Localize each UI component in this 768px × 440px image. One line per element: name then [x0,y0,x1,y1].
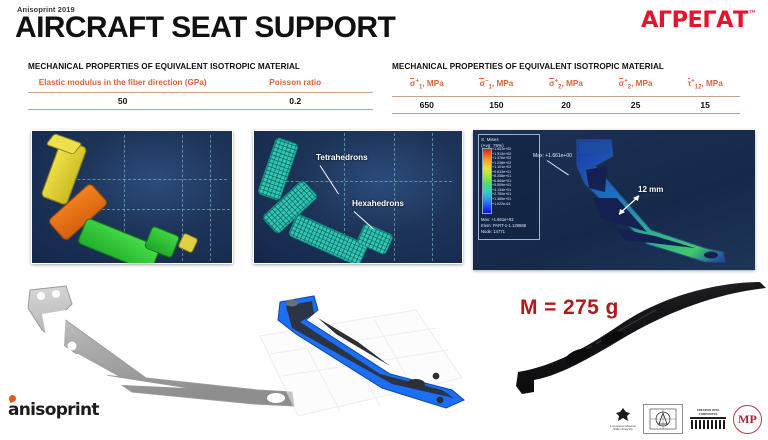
fea-hole [704,252,718,259]
sup-sign: − [485,78,489,84]
bracket-cutout [42,310,66,346]
sup-sign: + [415,78,419,84]
table-isotropic-elastic: MECHANICAL PROPERTIES OF EQUIVALENT ISOT… [28,62,373,110]
agregat-logo: АГРЕГАТ ™ [642,8,756,33]
sigma-glyph: σ [479,78,485,89]
trademark-symbol: ™ [749,10,756,17]
ccc-caption: CREATION WITH COMPOSITES [688,409,728,415]
slicer-view [240,276,470,434]
sigma-glyph: σ [410,78,416,89]
table-isotropic-strength: MECHANICAL PROPERTIES OF EQUIVALENT ISOT… [392,62,740,114]
table-caption-right: MECHANICAL PROPERTIES OF EQUIVALENT ISOT… [392,62,740,71]
th-sigma-1-plus: σ+1, MPa [392,76,462,97]
slicer-hole [433,373,440,380]
mp-logo: MP [733,405,762,434]
institute-logo [643,404,683,434]
agregat-wordmark: АГРЕГАТ [641,8,748,33]
sup-sign: + [624,78,628,84]
construction-line [52,179,227,180]
mass-label: M = 275 g [520,296,619,320]
td-sigma-2-plus-alt: 25 [601,97,671,114]
slicer-hole [437,397,444,404]
anisoprint-wordmark: anisoprint [8,400,99,420]
creation-with-composites-logo: CREATION WITH COMPOSITES [688,404,728,434]
th-poisson-ratio: Poisson ratio [217,76,373,93]
msu-crest-icon [614,407,632,424]
msu-caption: Lomonosov Moscow State University [608,425,638,431]
table-header-row: σ+1, MPa σ−1, MPa σ+2, MPa σ+2, MPa τ+12… [392,76,740,97]
td-sigma-1-plus: 650 [392,97,462,114]
mesh-label-tetrahedrons: Tetrahedrons [316,153,368,162]
unit: , MPa [422,79,443,88]
table-row: 650 150 20 25 15 [392,97,740,114]
sigma-glyph: σ [619,78,625,89]
th-elastic-modulus: Elastic modulus in the fiber direction (… [28,76,217,93]
unit: , MPa [492,79,513,88]
strength-properties-table: σ+1, MPa σ−1, MPa σ+2, MPa σ+2, MPa τ+12… [392,76,740,114]
mesh-label-hexahedrons: Hexahedrons [352,199,404,208]
th-sigma-1-minus: σ−1, MPa [462,76,532,97]
carbon-hole [591,343,596,348]
fea-color-bar [482,148,492,214]
elastic-properties-table: Elastic modulus in the fiber direction (… [28,76,373,110]
fea-results-panel: S, Mises (Avg: 75%) +1.651e+02 +1.513e+0… [473,130,755,270]
sup-sign: + [691,78,695,84]
cad-geometry-panel [31,130,233,264]
slicer-hole [286,300,298,307]
bracket-hole [52,290,60,298]
mesh-panel: Tetrahedrons Hexahedrons [253,130,463,264]
td-poisson-ratio: 0.2 [217,93,373,110]
anisoprint-logo: anisoprint [8,400,99,420]
slide-root: Anisoprint 2019 AIRCRAFT SEAT SUPPORT АГ… [0,0,768,440]
dimension-arrow [613,192,649,220]
slicer-hole [407,379,425,389]
td-elastic-modulus: 50 [28,93,217,110]
bracket-hole [37,292,45,300]
unit: , MPa [562,79,583,88]
slicer-svg [240,276,470,434]
th-sigma-2-plus: σ+2, MPa [531,76,601,97]
unit: , MPa [631,79,652,88]
page-title: AIRCRAFT SEAT SUPPORT [15,13,395,43]
sigma-glyph: σ [549,78,555,89]
construction-line [210,135,211,261]
table-row: 50 0.2 [28,93,373,110]
construction-line [394,133,395,261]
unit: , MPa [701,79,722,88]
th-sigma-2-plus-alt: σ+2, MPa [601,76,671,97]
th-tau-12-plus: τ+12, MPa [670,76,740,97]
fea-legend-footer: Max: +1.651e+02 Elem: PART-1-1.128568 No… [481,217,539,235]
sup-sign: + [555,78,559,84]
institute-icon [649,408,677,430]
ccc-bars-icon [690,417,726,429]
fea-legend: S, Mises (Avg: 75%) +1.651e+02 +1.513e+0… [478,134,540,240]
fea-top-face [579,142,609,153]
construction-line [432,133,433,261]
bracket-hole [68,342,77,351]
td-sigma-2-plus: 20 [531,97,601,114]
table-header-row: Elastic modulus in the fiber direction (… [28,76,373,93]
msu-logo: Lomonosov Moscow State University [608,404,638,434]
table-caption-left: MECHANICAL PROPERTIES OF EQUIVALENT ISOT… [28,62,373,71]
fea-bracket-svg [555,136,745,268]
td-sigma-1-minus: 150 [462,97,532,114]
tau-glyph: τ [688,78,692,89]
bracket-hole [46,364,55,373]
construction-line [266,181,452,182]
fea-legend-ticks: +1.651e+02 +1.513e+02 +1.376e+02 +1.238e… [492,147,536,215]
td-tau-12-plus: 15 [670,97,740,114]
partner-logos: Lomonosov Moscow State University CREATI… [608,404,762,434]
